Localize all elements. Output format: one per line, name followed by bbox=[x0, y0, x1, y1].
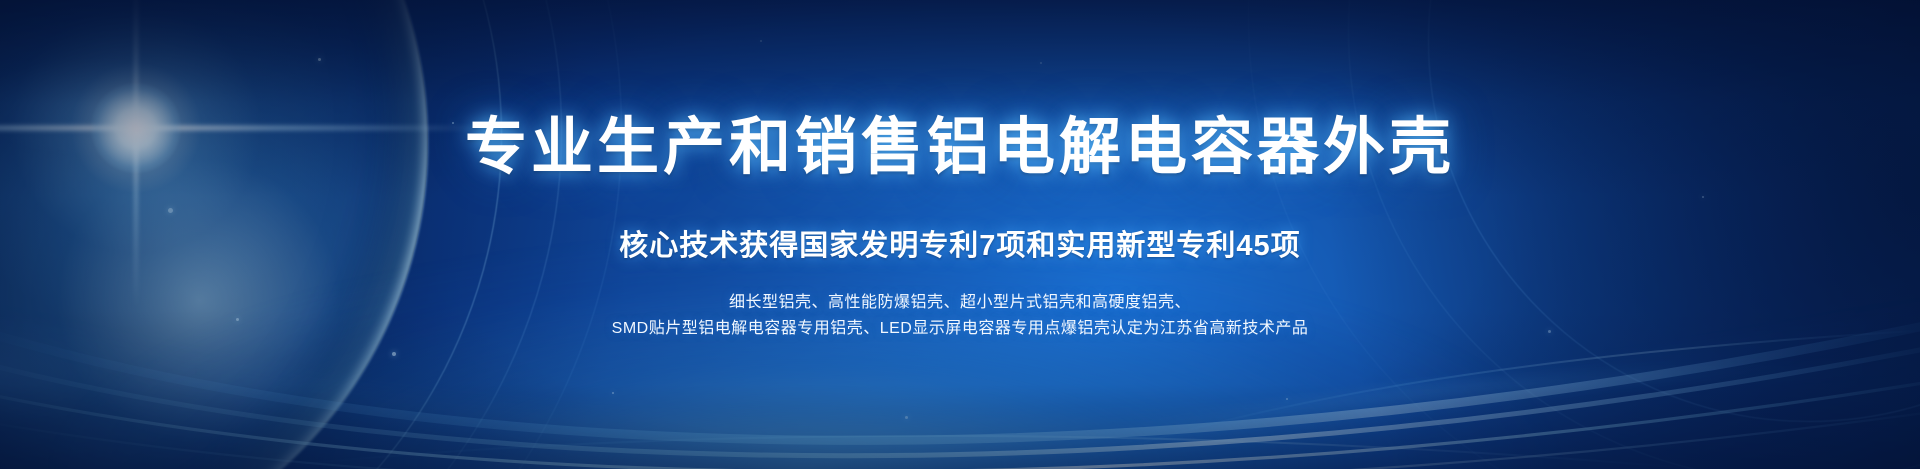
hero-banner: 专业生产和销售铝电解电容器外壳 核心技术获得国家发明专利7项和实用新型专利45项… bbox=[0, 0, 1920, 469]
banner-description-line-2: SMD贴片型铝电解电容器专用铝壳、LED显示屏电容器专用点爆铝壳认定为江苏省高新… bbox=[612, 316, 1309, 342]
banner-description-line-1: 细长型铝壳、高性能防爆铝壳、超小型片式铝壳和高硬度铝壳、 bbox=[612, 290, 1309, 316]
banner-content: 专业生产和销售铝电解电容器外壳 核心技术获得国家发明专利7项和实用新型专利45项… bbox=[0, 0, 1920, 469]
banner-description: 细长型铝壳、高性能防爆铝壳、超小型片式铝壳和高硬度铝壳、 SMD贴片型铝电解电容… bbox=[612, 290, 1309, 342]
banner-headline: 专业生产和销售铝电解电容器外壳 bbox=[465, 96, 1455, 186]
banner-subheadline: 核心技术获得国家发明专利7项和实用新型专利45项 bbox=[619, 222, 1300, 264]
